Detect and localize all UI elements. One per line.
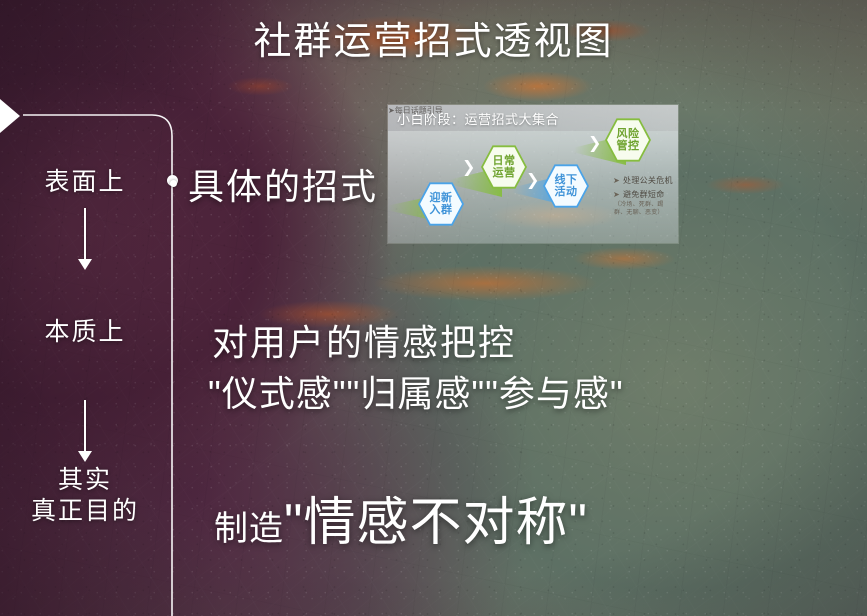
down-arrow-icon-1 bbox=[77, 208, 93, 270]
hexagon-label-line1: 迎新 bbox=[430, 192, 453, 204]
bullet-dot-icon bbox=[170, 180, 177, 187]
stage-label-essence: 本质上 bbox=[0, 317, 170, 348]
hexagon-label: 线下 活动 bbox=[555, 174, 578, 199]
arrow-head bbox=[78, 259, 92, 270]
stage-label-purpose-line2: 真正目的 bbox=[0, 496, 170, 527]
diagram-bullet-2: ➤避免群短命 bbox=[613, 189, 665, 200]
hexagon-label-line1: 线下 bbox=[555, 174, 578, 186]
diagram-hexagon-offline-event: 线下 活动 bbox=[543, 163, 589, 209]
arrow-shaft bbox=[84, 208, 86, 260]
hexagon-label-line2: 管控 bbox=[617, 140, 640, 152]
diagram-chevron-icon-3: ❯ bbox=[588, 133, 601, 153]
bullet-marker-icon: ➤ bbox=[613, 190, 620, 199]
diagram-hexagon-welcome: 迎新 入群 bbox=[418, 181, 464, 227]
hexagon-label: 风险 管控 bbox=[617, 128, 640, 153]
content-purpose-text: 制造"情感不对称" bbox=[214, 480, 588, 555]
hexagon-label-line2: 入群 bbox=[430, 204, 453, 216]
page-title: 社群运营招式透视图 bbox=[0, 10, 867, 65]
bullet-marker-icon: ➤ bbox=[613, 176, 620, 185]
stage-label-surface: 表面上 bbox=[0, 167, 170, 198]
diagram-note-text: （冷场、死群、踢群、无聊、恶变） bbox=[614, 201, 674, 217]
hexagon-label: 迎新 入群 bbox=[430, 192, 453, 217]
content-purpose-main: "情感不对称" bbox=[284, 494, 588, 552]
hexagon-label-line1: 日常 bbox=[493, 155, 516, 167]
content-surface-text: 具体的招式 bbox=[188, 158, 378, 210]
content-purpose-prefix: 制造 bbox=[214, 510, 284, 548]
arrow-head bbox=[78, 451, 92, 462]
stage-label-purpose-line1: 其实 bbox=[0, 465, 170, 496]
hexagon-label-line2: 运营 bbox=[493, 167, 516, 179]
stage-label-purpose: 其实 真正目的 bbox=[0, 465, 170, 526]
embedded-diagram: 小白阶段：运营招式大集合 迎新 入群 日常 运营 线下 活动 风险 bbox=[388, 105, 678, 243]
content-essence-line2: "仪式感""归属感""参与感" bbox=[208, 365, 624, 417]
diagram-chevron-icon-1: ❯ bbox=[462, 157, 475, 177]
hexagon-label: 日常 运营 bbox=[493, 155, 516, 180]
diagram-title: 小白阶段：运营招式大集合 bbox=[397, 109, 559, 128]
down-arrow-icon-2 bbox=[77, 400, 93, 462]
hexagon-label-line1: 风险 bbox=[617, 128, 640, 140]
bullet-text: 处理公关危机 bbox=[623, 176, 673, 185]
hexagon-label-line2: 活动 bbox=[555, 186, 578, 198]
diagram-bullet-1: ➤处理公关危机 bbox=[613, 175, 673, 186]
arrow-shaft bbox=[84, 400, 86, 452]
slide-canvas: 社群运营招式透视图 表面上 本质上 其实 真正目的 具体的招式 对用户的情感把控… bbox=[0, 0, 867, 616]
content-essence-line1: 对用户的情感把控 bbox=[212, 314, 516, 366]
bullet-text: 避免群短命 bbox=[623, 190, 665, 199]
diagram-chevron-icon-2: ❯ bbox=[526, 170, 539, 190]
